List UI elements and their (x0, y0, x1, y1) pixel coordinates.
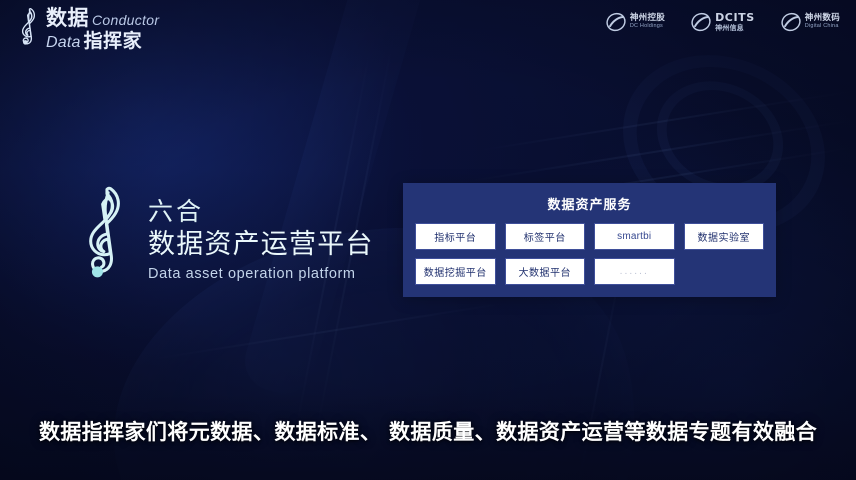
service-card-big-data[interactable]: 大数据平台 (505, 258, 586, 285)
product-title-main: 数据资产运营平台 (148, 228, 374, 262)
partner-logo-digital-china: 神州数码 Digital China (781, 12, 840, 32)
slide-canvas: 数据 Conductor Data 指挥家 神州控股 DC Holdings (0, 0, 856, 480)
product-lockup: 六合 数据资产运营平台 Data asset operation platfor… (74, 186, 374, 294)
partner-name-en: Digital China (805, 24, 840, 30)
data-asset-service-panel: 数据资产服务 指标平台 标签平台 smartbi 数据实验室 数据挖掘平台 大数… (403, 183, 776, 297)
service-card-data-lab[interactable]: 数据实验室 (684, 223, 765, 250)
service-card-more[interactable]: ...... (594, 258, 675, 285)
partner-name-cn: DCITS (715, 12, 755, 24)
product-subtitle-en: Data asset operation platform (148, 266, 374, 282)
partner-name-cn: 神州控股 (630, 14, 665, 23)
partner-logo-dc-holdings: 神州控股 DC Holdings (606, 12, 665, 32)
brand-line1-en: Conductor (92, 13, 159, 27)
partner-logo-group: 神州控股 DC Holdings DCITS 神州信息 神州数码 Digital… (606, 12, 840, 32)
partner-logo-dcits: DCITS 神州信息 (691, 12, 755, 32)
swoosh-logo-icon (691, 12, 711, 32)
product-title-small: 六合 (148, 198, 374, 227)
treble-clef-icon (14, 7, 44, 51)
brand-line2-en: Data (46, 35, 81, 51)
brand-logo: 数据 Conductor Data 指挥家 (14, 6, 159, 52)
partner-name-en: DC Holdings (630, 24, 665, 30)
swoosh-logo-icon (781, 12, 801, 32)
treble-clef-icon (74, 186, 136, 294)
partner-name-en: 神州信息 (715, 25, 755, 32)
product-lockup-text: 六合 数据资产运营平台 Data asset operation platfor… (148, 198, 374, 282)
service-card-zhibiao[interactable]: 指标平台 (415, 223, 496, 250)
service-card-biaoqian[interactable]: 标签平台 (505, 223, 586, 250)
service-card-smartbi[interactable]: smartbi (594, 223, 675, 250)
brand-line2-cn: 指挥家 (84, 32, 143, 51)
panel-title: 数据资产服务 (403, 194, 776, 213)
service-card-grid: 指标平台 标签平台 smartbi 数据实验室 数据挖掘平台 大数据平台 ...… (415, 223, 764, 285)
brand-wordmark: 数据 Conductor Data 指挥家 (46, 8, 159, 51)
brand-line1-cn: 数据 (46, 8, 89, 29)
service-card-data-mining[interactable]: 数据挖掘平台 (415, 258, 496, 285)
partner-name-cn: 神州数码 (805, 14, 840, 23)
swoosh-logo-icon (606, 12, 626, 32)
caption-text: 数据指挥家们将元数据、数据标准、 数据质量、数据资产运营等数据专题有效融合 (0, 416, 856, 446)
